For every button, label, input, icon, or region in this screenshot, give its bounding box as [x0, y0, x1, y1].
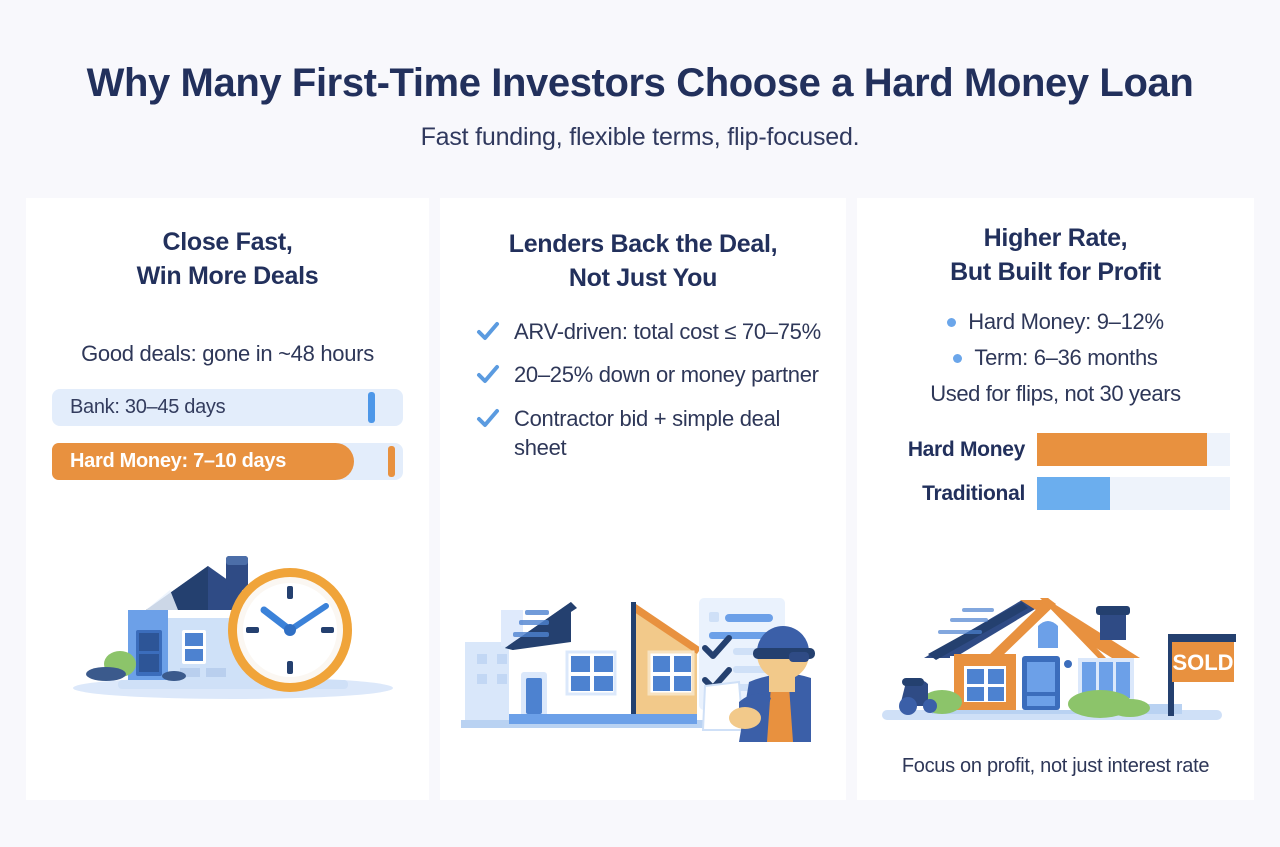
bullet-dot-icon: [947, 318, 956, 327]
timeline-row-bank: Bank: 30–45 days: [52, 389, 403, 426]
list-item-label: Hard Money: 9–12%: [968, 309, 1163, 335]
card-title-line-1: Higher Rate,: [984, 224, 1128, 252]
compare-track-traditional: [1037, 477, 1230, 510]
timeline-tick-bank: [368, 392, 375, 423]
card-title-close-fast: Close Fast, Win More Deals: [26, 226, 429, 293]
list-item-label: Contractor bid + simple deal sheet: [514, 404, 826, 463]
compare-label-traditional: Traditional: [875, 482, 1025, 506]
bullet-list: Hard Money: 9–12% Term: 6–36 months: [857, 309, 1254, 371]
card-higher-rate: Higher Rate, But Built for Profit Hard M…: [857, 198, 1254, 800]
compare-label-hard-money: Hard Money: [875, 438, 1025, 462]
timeline-row-hard-money: Hard Money: 7–10 days: [52, 443, 403, 480]
card-title-higher-rate: Higher Rate, But Built for Profit: [857, 222, 1254, 289]
check-icon: [476, 319, 500, 345]
list-item-label: 20–25% down or money partner: [514, 360, 819, 389]
timeline-tick-hard-money: [388, 446, 395, 477]
list-item: Contractor bid + simple deal sheet: [476, 404, 826, 463]
illustration-house-checklist-contractor: [440, 590, 846, 742]
compare-row-traditional: Traditional: [875, 477, 1230, 510]
card-lenders-back-deal: Lenders Back the Deal, Not Just You ARV-…: [440, 198, 846, 800]
card-row: Close Fast, Win More Deals Good deals: g…: [26, 198, 1254, 800]
card-close-fast: Close Fast, Win More Deals Good deals: g…: [26, 198, 429, 800]
timeline-label-bank: Bank: 30–45 days: [52, 396, 225, 419]
compare-bars: Hard Money Traditional: [857, 433, 1254, 510]
sold-sign-text: SOLD: [1172, 650, 1233, 675]
page-header: Why Many First-Time Investors Choose a H…: [0, 0, 1280, 152]
compare-fill-traditional: [1037, 477, 1110, 510]
card-title-line-1: Lenders Back the Deal,: [509, 230, 778, 258]
compare-fill-hard-money: [1037, 433, 1207, 466]
card-title-line-2: But Built for Profit: [950, 258, 1161, 286]
list-item: ARV-driven: total cost ≤ 70–75%: [476, 317, 826, 346]
check-icon: [476, 362, 500, 388]
list-item-label: ARV-driven: total cost ≤ 70–75%: [514, 317, 821, 346]
card-title-line-1: Close Fast,: [162, 228, 292, 256]
list-item: Term: 6–36 months: [953, 345, 1157, 371]
timeline-bars: Bank: 30–45 days Hard Money: 7–10 days: [26, 389, 429, 480]
card-title-line-2: Not Just You: [569, 264, 717, 292]
illustration-sold-house: SOLD: [857, 582, 1254, 732]
page-subtitle: Fast funding, flexible terms, flip-focus…: [0, 123, 1280, 152]
list-item: Hard Money: 9–12%: [947, 309, 1163, 335]
card-title-line-2: Win More Deals: [137, 262, 319, 290]
check-list: ARV-driven: total cost ≤ 70–75% 20–25% d…: [440, 317, 846, 463]
check-icon: [476, 406, 500, 432]
page-title: Why Many First-Time Investors Choose a H…: [0, 62, 1280, 105]
compare-track-hard-money: [1037, 433, 1230, 466]
focus-caption: Focus on profit, not just interest rate: [857, 755, 1254, 778]
good-deals-lead: Good deals: gone in ~48 hours: [26, 341, 429, 367]
timeline-label-hard-money: Hard Money: 7–10 days: [52, 450, 286, 473]
illustration-house-with-clock: [26, 548, 429, 708]
compare-row-hard-money: Hard Money: [875, 433, 1230, 466]
bullet-dot-icon: [953, 354, 962, 363]
flips-note: Used for flips, not 30 years: [857, 381, 1254, 407]
card-title-lenders: Lenders Back the Deal, Not Just You: [440, 228, 846, 295]
list-item: 20–25% down or money partner: [476, 360, 826, 389]
list-item-label: Term: 6–36 months: [974, 345, 1157, 371]
